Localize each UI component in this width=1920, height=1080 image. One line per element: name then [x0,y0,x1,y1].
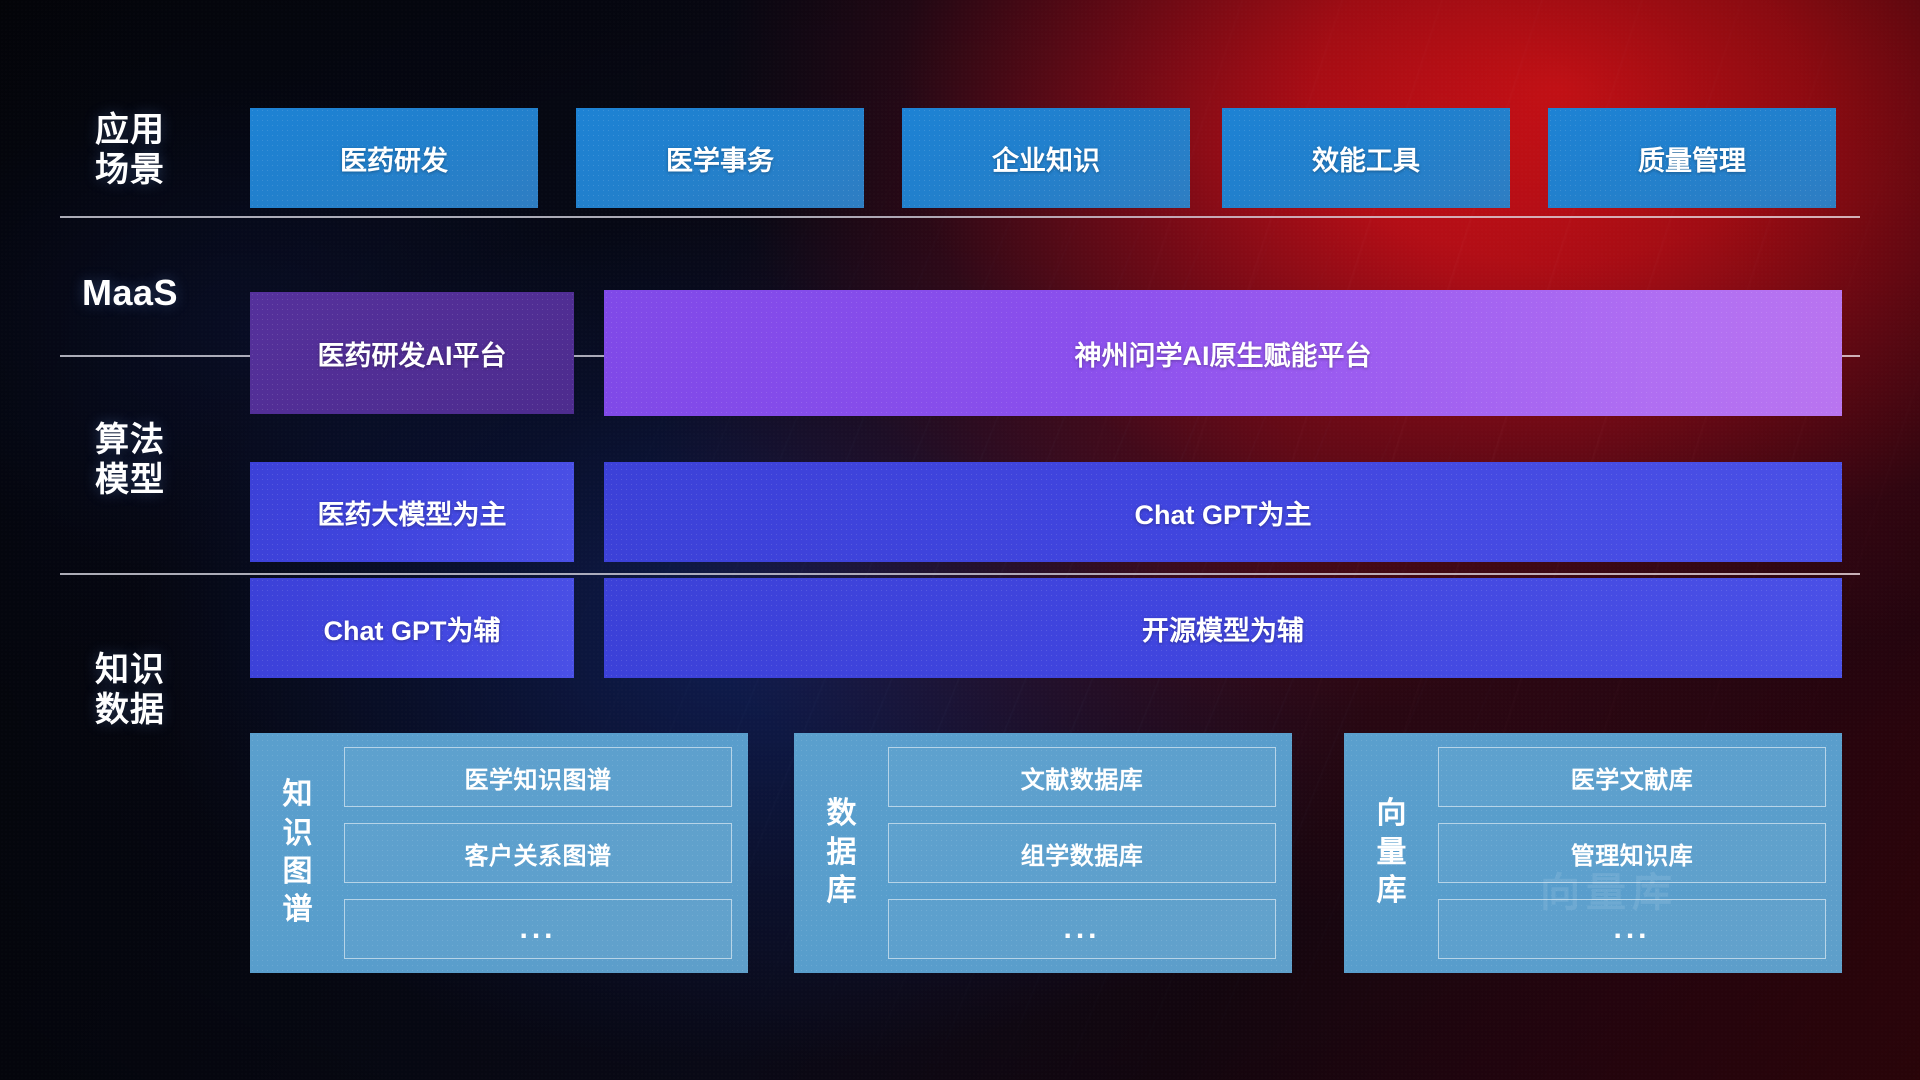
knowledge-item-more-vector-store[interactable]: ... [1438,899,1826,959]
row-label-application: 应用 场景 [70,110,190,190]
maas-card-shenzhou-wenxue-platform[interactable]: 神州问学AI原生赋能平台 [604,290,1842,416]
maas-card-pharma-ai-platform[interactable]: 医药研发AI平台 [250,292,574,414]
row-label-algorithm-line2: 模型 [70,460,190,500]
title-char: 据 [827,834,858,872]
knowledge-item-management-knowledge-store[interactable]: 管理知识库 [1438,823,1826,883]
knowledge-item-medical-literature-store[interactable]: 医学文献库 [1438,747,1826,807]
app-card-medical-affairs[interactable]: 医学事务 [576,108,864,208]
algo-card-opensource-secondary[interactable]: 开源模型为辅 [604,578,1842,678]
algo-card-chatgpt-primary[interactable]: Chat GPT为主 [604,462,1842,562]
row-divider-1 [60,216,1860,218]
knowledge-items-database: 文献数据库 组学数据库 ... [888,747,1276,959]
algo-card-chatgpt-secondary[interactable]: Chat GPT为辅 [250,578,574,678]
knowledge-item-medical-knowledge-graph[interactable]: 医学知识图谱 [344,747,732,807]
row-label-application-line1: 应用 [70,110,190,150]
knowledge-group-knowledge-graph: 知 识 图 谱 医学知识图谱 客户关系图谱 ... [250,733,748,973]
title-char: 知 [283,776,314,814]
knowledge-group-vector-store: 向 量 库 医学文献库 管理知识库 ... [1344,733,1842,973]
knowledge-group-database: 数 据 库 文献数据库 组学数据库 ... [794,733,1292,973]
app-card-efficiency-tools[interactable]: 效能工具 [1222,108,1510,208]
knowledge-items-vector-store: 医学文献库 管理知识库 ... [1438,747,1826,959]
knowledge-group-title-database: 数 据 库 [810,747,874,959]
diagram-rows: 应用 场景 医药研发 医学事务 企业知识 效能工具 质量管理 MaaS 医药研发… [0,0,1920,1080]
architecture-diagram-canvas: 应用 场景 医药研发 医学事务 企业知识 效能工具 质量管理 MaaS 医药研发… [0,0,1920,1080]
knowledge-item-more-database[interactable]: ... [888,899,1276,959]
knowledge-item-more-knowledge-graph[interactable]: ... [344,899,732,959]
app-card-pharma-rd[interactable]: 医药研发 [250,108,538,208]
row-label-maas: MaaS [70,272,190,314]
row-label-algorithm-line1: 算法 [70,420,190,460]
title-char: 识 [283,815,314,853]
title-char: 图 [283,853,314,891]
knowledge-item-omics-database[interactable]: 组学数据库 [888,823,1276,883]
title-char: 数 [827,795,858,833]
knowledge-item-literature-database[interactable]: 文献数据库 [888,747,1276,807]
app-card-quality-management[interactable]: 质量管理 [1548,108,1836,208]
row-label-knowledge-line2: 数据 [70,690,190,730]
title-char: 库 [827,872,858,910]
knowledge-items-knowledge-graph: 医学知识图谱 客户关系图谱 ... [344,747,732,959]
row-label-knowledge-line1: 知识 [70,650,190,690]
title-char: 量 [1377,834,1408,872]
title-char: 谱 [283,891,314,929]
title-char: 库 [1377,872,1408,910]
row-label-algorithm: 算法 模型 [70,420,190,500]
knowledge-group-title-knowledge-graph: 知 识 图 谱 [266,747,330,959]
knowledge-item-customer-relation-graph[interactable]: 客户关系图谱 [344,823,732,883]
knowledge-group-title-vector-store: 向 量 库 [1360,747,1424,959]
app-card-enterprise-knowledge[interactable]: 企业知识 [902,108,1190,208]
row-divider-3 [60,573,1860,575]
title-char: 向 [1377,795,1408,833]
row-label-application-line2: 场景 [70,150,190,190]
row-label-knowledge: 知识 数据 [70,650,190,730]
algo-card-pharma-llm-primary[interactable]: 医药大模型为主 [250,462,574,562]
